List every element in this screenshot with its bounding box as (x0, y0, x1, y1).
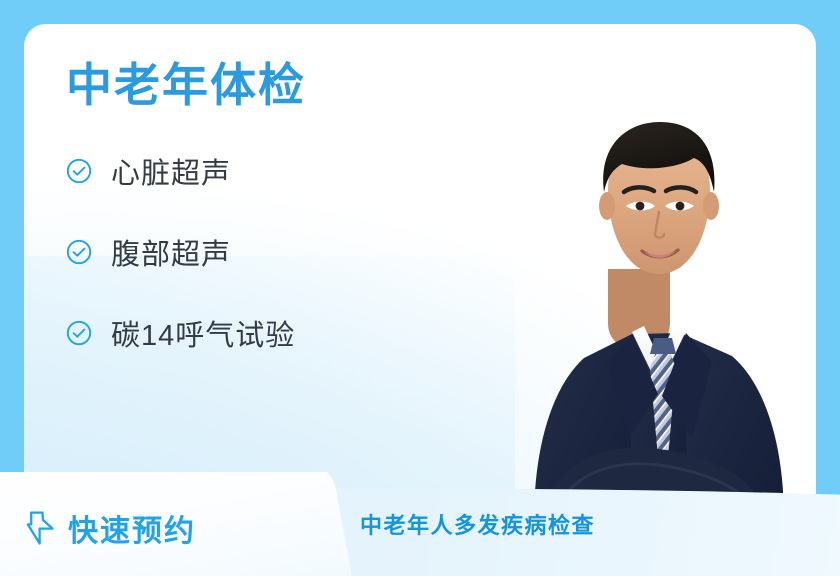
promo-tagline: 中老年人多发疾病检查 (360, 472, 595, 576)
feature-label: 腹部超声 (111, 231, 231, 273)
health-checkup-promo-card[interactable]: 中老年体检 心脏超声 腹部超声 (0, 0, 840, 576)
quick-booking-content[interactable]: 快速预约 (0, 472, 196, 576)
list-item: 腹部超声 (66, 231, 466, 273)
quick-booking-label: 快速预约 (68, 506, 196, 550)
bottom-action-bar: 中老年人多发疾病检查 快速预约 (0, 472, 840, 576)
list-item: 碳14呼气试验 (66, 312, 466, 354)
check-circle-icon (66, 320, 92, 346)
card-content-column: 中老年体检 心脏超声 腹部超声 (66, 62, 466, 354)
lightning-bolt-icon (26, 511, 56, 545)
check-circle-icon (66, 239, 92, 265)
feature-list: 心脏超声 腹部超声 碳14呼气试验 (66, 150, 466, 354)
list-item: 心脏超声 (66, 150, 466, 192)
page-title: 中老年体检 (66, 62, 466, 108)
feature-label: 碳14呼气试验 (111, 312, 295, 354)
feature-label: 心脏超声 (111, 150, 231, 192)
check-circle-icon (66, 158, 92, 184)
